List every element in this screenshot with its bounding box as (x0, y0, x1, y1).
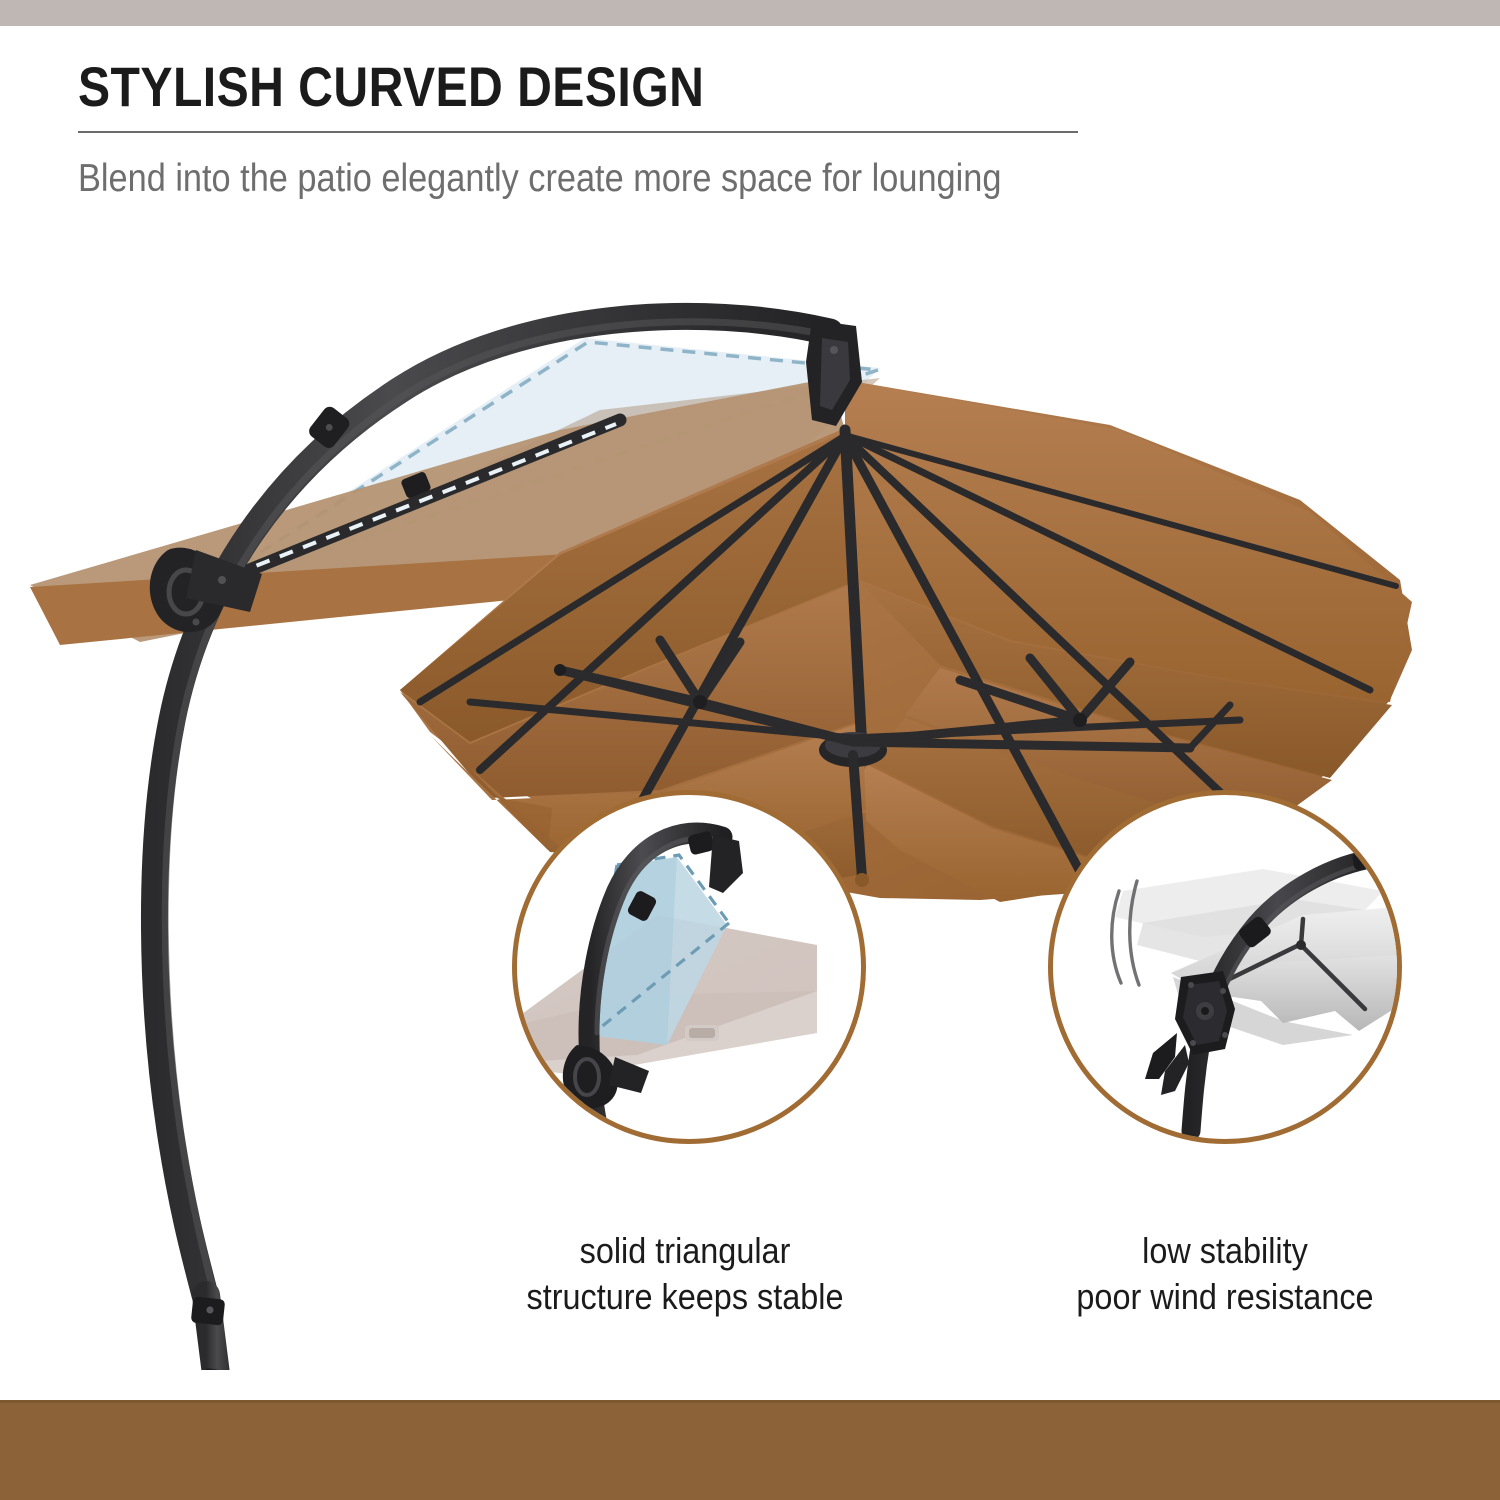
header: STYLISH CURVED DESIGN Blend into the pat… (78, 58, 1088, 201)
caption-right-line-2: poor wind resistance (1023, 1274, 1428, 1320)
caption-left-line-2: structure keeps stable (483, 1274, 888, 1320)
inset-low-stability-poor-wind-resistance (1048, 790, 1402, 1144)
caption-solid-triangular-structure: solid triangular structure keeps stable (483, 1228, 888, 1320)
caption-left-line-1: solid triangular (483, 1228, 888, 1274)
bottom-accent-bar (0, 1400, 1500, 1500)
page-title: STYLISH CURVED DESIGN (78, 58, 947, 115)
caption-low-stability: low stability poor wind resistance (1023, 1228, 1428, 1320)
title-divider (78, 131, 1078, 133)
top-accent-bar (0, 0, 1500, 26)
caption-right-line-1: low stability (1023, 1228, 1428, 1274)
page-subtitle: Blend into the patio elegantly create mo… (78, 157, 967, 201)
inset-right-illustration (1053, 795, 1397, 1139)
infographic-page: STYLISH CURVED DESIGN Blend into the pat… (0, 0, 1500, 1500)
inset-left-illustration (517, 795, 861, 1139)
inset-solid-triangular-structure (512, 790, 866, 1144)
